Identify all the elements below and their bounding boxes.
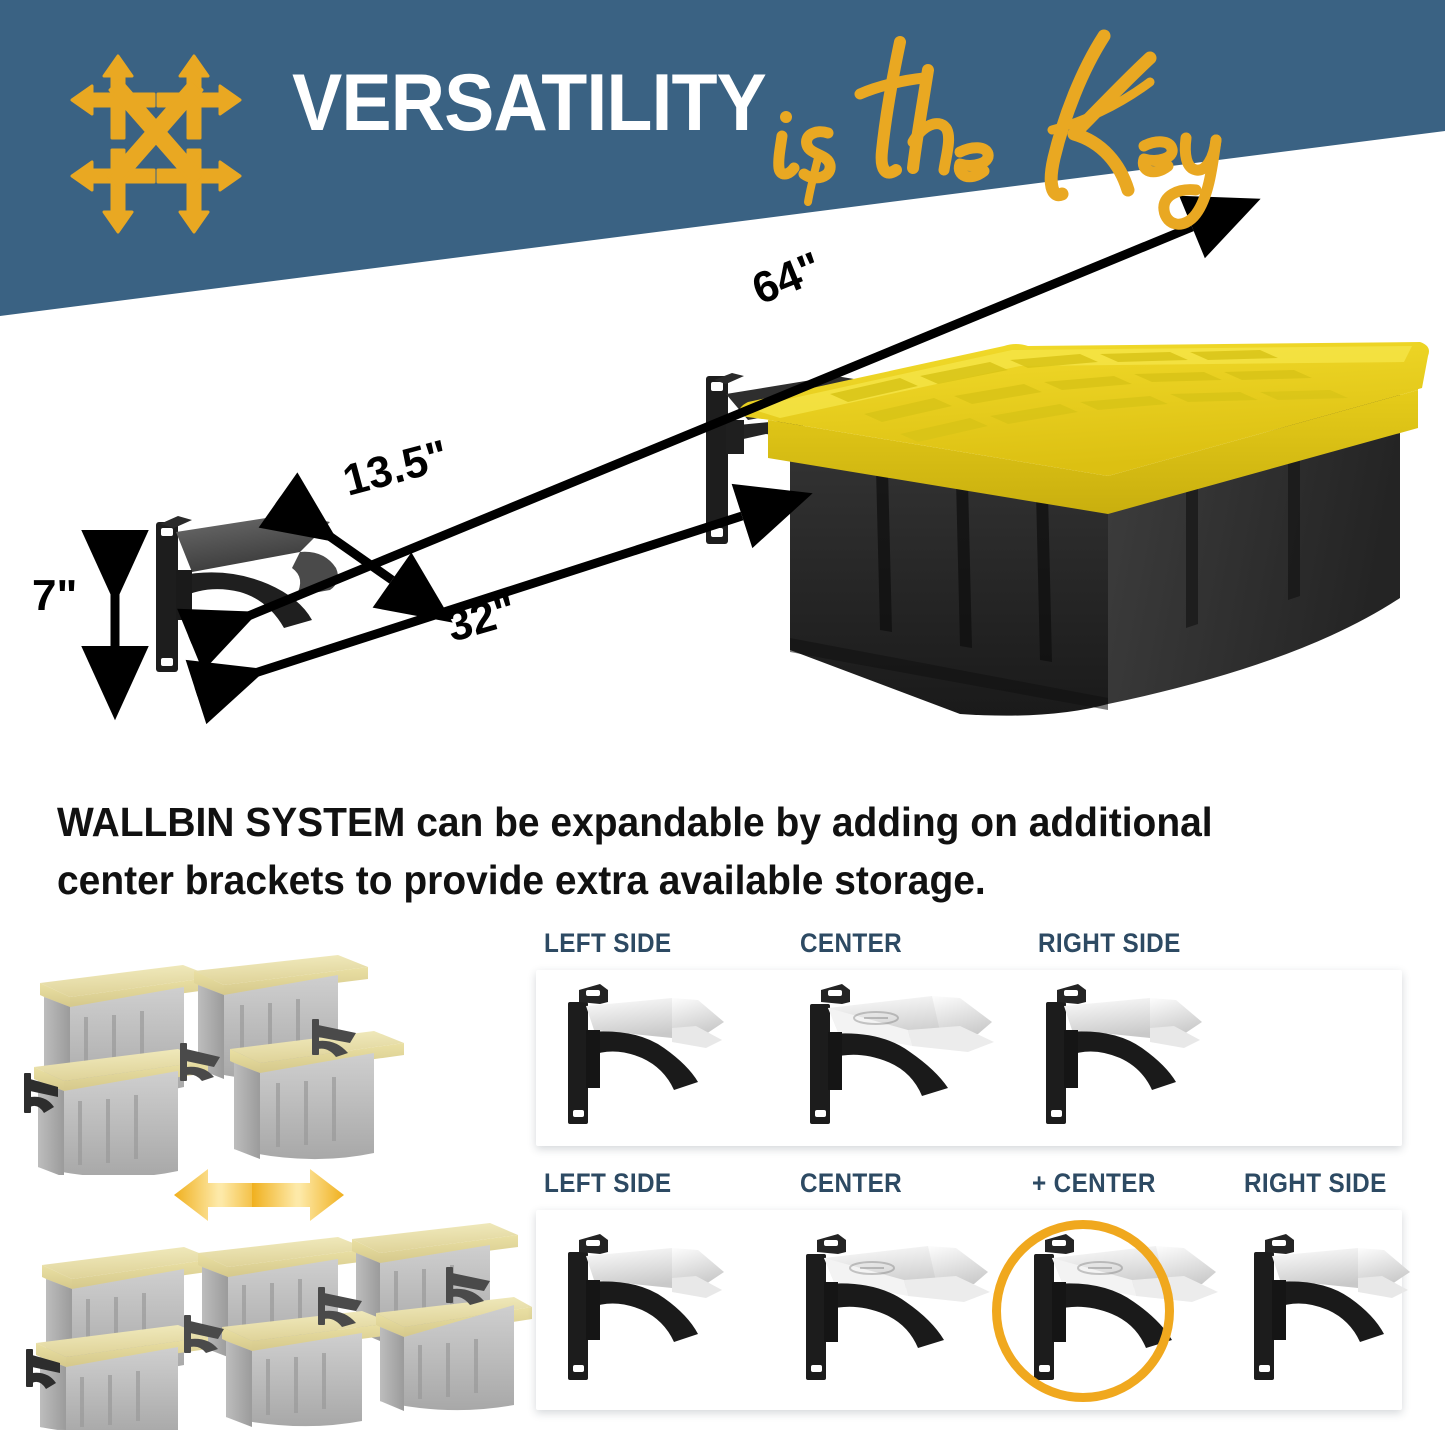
dimension-label-32: 32" [441,585,522,651]
right-side-bracket[interactable] [1028,970,1258,1146]
expandability-line-2: center brackets to provide extra availab… [57,851,1254,909]
bin-unit [376,1297,532,1411]
dimension-label-7: 7" [32,571,77,620]
expandability-description: WALLBIN SYSTEM can be expandable by addi… [57,793,1254,909]
bracket-label-left-side-2: LEFT SIDE [544,1168,671,1199]
multi-direction-arrows-icon [42,28,270,260]
plus-center-bracket[interactable] [1010,1210,1240,1410]
bracket-layout-standard: LEFT SIDE CENTER RIGHT SIDE [536,928,1402,1153]
bin-unit [36,1325,208,1430]
bracket-panel-standard [536,970,1402,1146]
bracket-panel-expanded [536,1210,1402,1410]
bracket-label-left-side: LEFT SIDE [544,928,671,959]
bin-configuration-basic [8,935,428,1175]
bracket-label-right-side: RIGHT SIDE [1038,928,1181,959]
bin-unit [222,1311,392,1427]
bidirectional-expand-arrow [174,1169,344,1221]
bracket-label-center-2: CENTER [800,1168,902,1199]
left-side-bracket-2[interactable] [546,1210,776,1410]
bracket-labels-row-1: LEFT SIDE CENTER RIGHT SIDE [536,928,1402,970]
dimension-label-13-5: 13.5" [338,431,454,506]
bracket-label-right-side-2: RIGHT SIDE [1244,1168,1387,1199]
left-side-bracket[interactable] [546,970,776,1146]
center-bracket[interactable] [792,970,1022,1146]
header-banner: VERSATILITY [0,0,1445,320]
center-bracket-2[interactable] [788,1210,1018,1410]
expandability-line-1: WALLBIN SYSTEM can be expandable by addi… [57,793,1254,851]
page-title: VERSATILITY [292,63,766,144]
bracket-layout-expanded: LEFT SIDE CENTER + CENTER RIGHT SIDE [536,1168,1402,1416]
bracket-labels-row-2: LEFT SIDE CENTER + CENTER RIGHT SIDE [536,1168,1402,1210]
headline-script-text [752,18,1252,233]
tote-bin-assembly [706,342,1429,716]
bracket-label-plus-center: + CENTER [1032,1168,1156,1199]
bracket-label-center: CENTER [800,928,902,959]
bin-configuration-expanded [8,1155,533,1430]
right-side-bracket-2[interactable] [1236,1210,1445,1410]
